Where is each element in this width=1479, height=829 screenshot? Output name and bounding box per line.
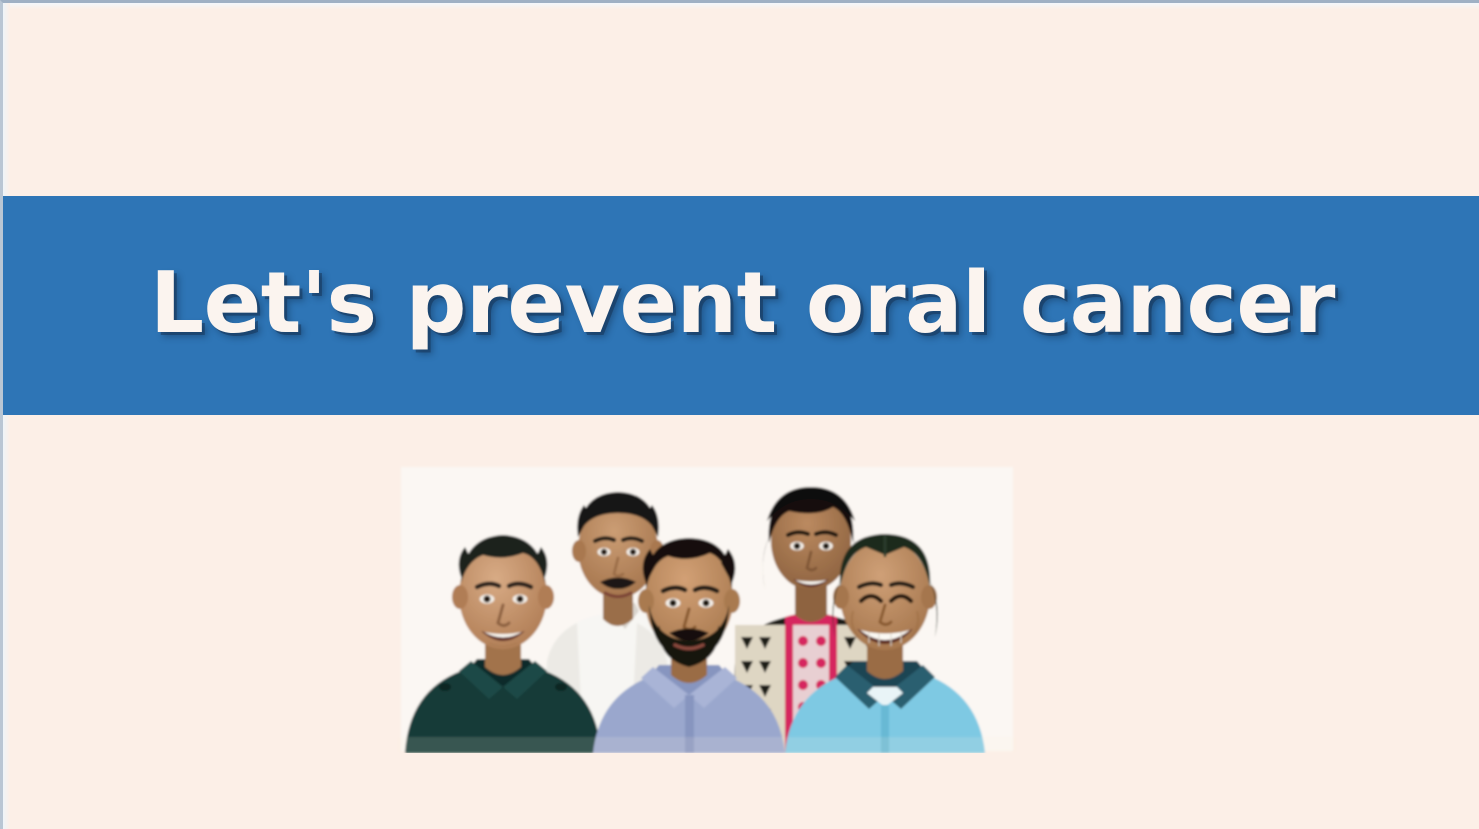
presentation-slide: Let's prevent oral cancer: [0, 0, 1479, 829]
team-group-photo: [397, 465, 1017, 753]
slide-title: Let's prevent oral cancer: [150, 261, 1335, 346]
slide-top-edge: [3, 3, 1479, 9]
team-photo-illustration: [397, 465, 1017, 753]
title-banner: Let's prevent oral cancer: [3, 196, 1479, 415]
slide-left-edge: [3, 3, 10, 829]
